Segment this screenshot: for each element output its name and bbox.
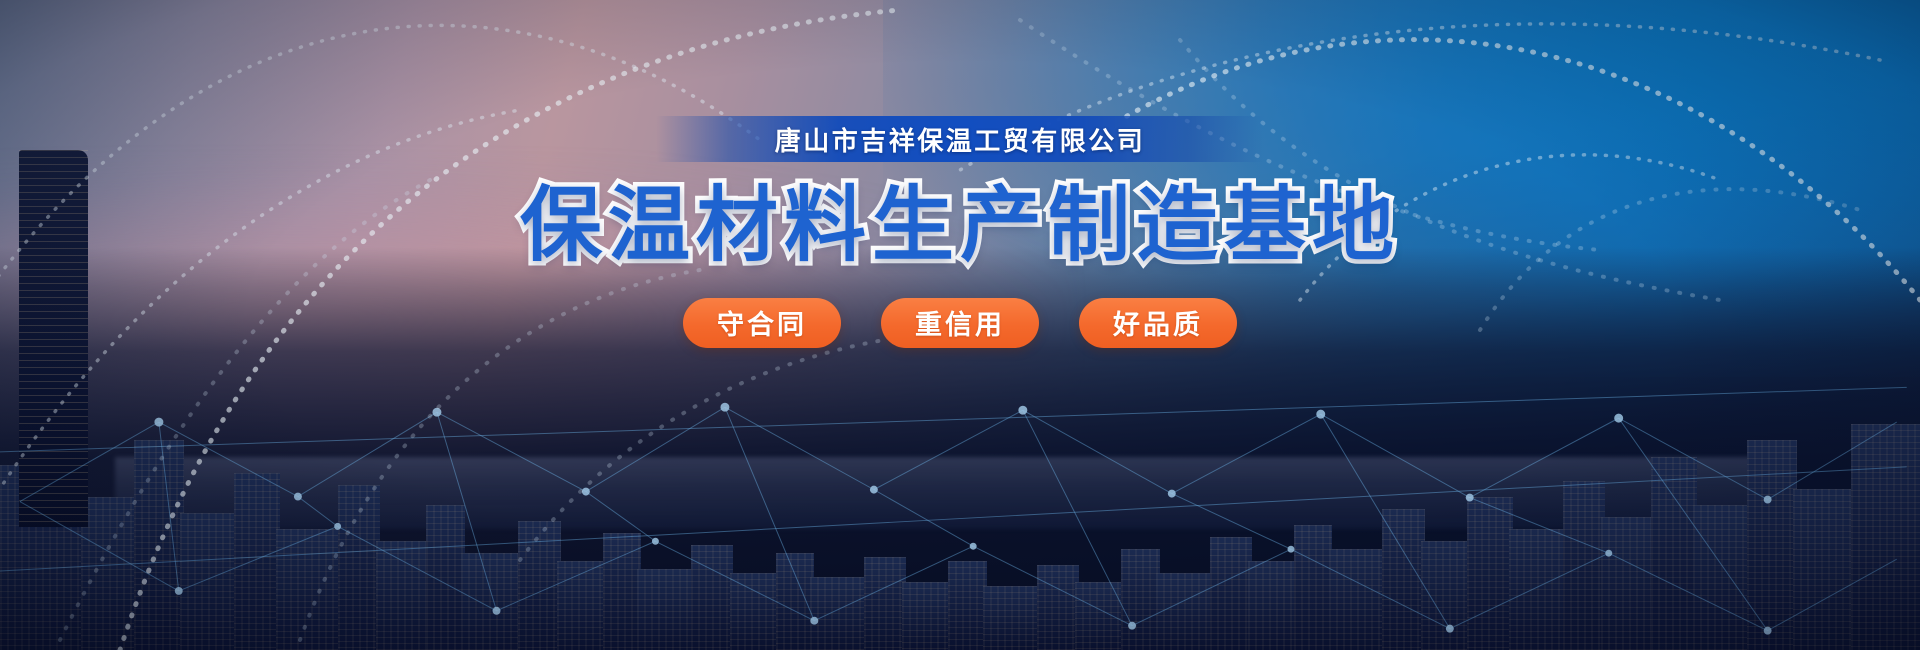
pill-shouhetong[interactable]: 守合同 bbox=[683, 298, 841, 348]
pill-label: 好品质 bbox=[1113, 303, 1203, 342]
pill-label: 重信用 bbox=[915, 303, 1005, 342]
pill-label: 守合同 bbox=[717, 303, 807, 342]
banner-content: 唐山市吉祥保温工贸有限公司 保温材料生产制造基地 守合同 重信用 好品质 bbox=[0, 0, 1920, 650]
pill-zhongxinyong[interactable]: 重信用 bbox=[881, 298, 1039, 348]
company-name: 唐山市吉祥保温工贸有限公司 bbox=[775, 121, 1146, 158]
page-title: 保温材料生产制造基地 bbox=[520, 180, 1400, 272]
company-name-ribbon: 唐山市吉祥保温工贸有限公司 bbox=[656, 116, 1264, 162]
hero-banner: 唐山市吉祥保温工贸有限公司 保温材料生产制造基地 守合同 重信用 好品质 bbox=[0, 0, 1920, 650]
pill-haopinzhi[interactable]: 好品质 bbox=[1079, 298, 1237, 348]
feature-pill-row: 守合同 重信用 好品质 bbox=[683, 298, 1237, 348]
